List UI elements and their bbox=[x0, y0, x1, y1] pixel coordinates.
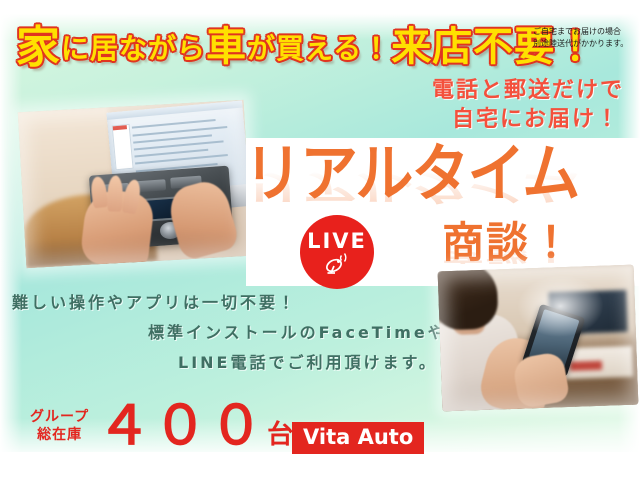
disclaimer-line-2: 別途陸送代がかかります。 bbox=[533, 38, 637, 50]
delivery-disclaimer: ご自宅までお届けの場合 別途陸送代がかかります。 bbox=[533, 26, 637, 50]
live-badge: LIVE bbox=[300, 215, 374, 289]
photo-woman-hair bbox=[438, 265, 499, 331]
disclaimer-line-1: ご自宅までお届けの場合 bbox=[533, 26, 637, 38]
red-subheadline: 電話と郵送だけで 自宅にお届け！ bbox=[432, 76, 640, 134]
headline-part-3: 車 bbox=[206, 22, 247, 72]
feature-description-line-3: LINE電話でご利用頂けます。 bbox=[8, 348, 438, 378]
photo-finger bbox=[107, 176, 123, 212]
feature-description-line-1: 難しい操作やアプリは一切不要！ bbox=[8, 288, 438, 318]
photo-window-glow bbox=[516, 274, 604, 339]
stock-label-line-1: グループ bbox=[30, 408, 89, 426]
feature-description: 難しい操作やアプリは一切不要！ 標準インストールのFaceTimeや LINE電… bbox=[8, 288, 438, 378]
headline-part-4: が買える！ bbox=[247, 24, 391, 74]
red-subheadline-line-2: 自宅にお届け！ bbox=[432, 105, 640, 134]
live-badge-label: LIVE bbox=[307, 230, 367, 252]
screen-row bbox=[135, 140, 224, 150]
stock-label-line-2: 総在庫 bbox=[30, 426, 89, 444]
laptop-car-dashboard-photo bbox=[18, 100, 252, 268]
satellite-dish-icon bbox=[324, 253, 350, 279]
photo-cabinet-accent bbox=[570, 361, 602, 370]
headline-part-2: に居ながら bbox=[61, 24, 206, 74]
main-headline: 家に居ながら車が買える！来店不要！ bbox=[16, 22, 536, 80]
woman-smartphone-photo bbox=[438, 265, 639, 412]
feature-title2: 商談！ bbox=[442, 222, 574, 264]
advertisement-banner: 家に居ながら車が買える！来店不要！ ご自宅までお届けの場合 別途陸送代がかかりま… bbox=[0, 0, 640, 480]
red-subheadline-line-1: 電話と郵送だけで bbox=[432, 76, 640, 105]
stock-count: グループ 総在庫 ４００ 台 bbox=[30, 396, 293, 456]
headline-part-1: 家 bbox=[16, 23, 61, 73]
vita-auto-logo: Vita Auto bbox=[292, 422, 424, 454]
stock-unit: 台 bbox=[267, 420, 293, 450]
stock-number: ４００ bbox=[97, 398, 265, 454]
feature-title: リアルタイム bbox=[244, 142, 578, 205]
feature-description-line-2: 標準インストールのFaceTimeや bbox=[8, 318, 438, 348]
stock-label: グループ 総在庫 bbox=[30, 408, 89, 444]
